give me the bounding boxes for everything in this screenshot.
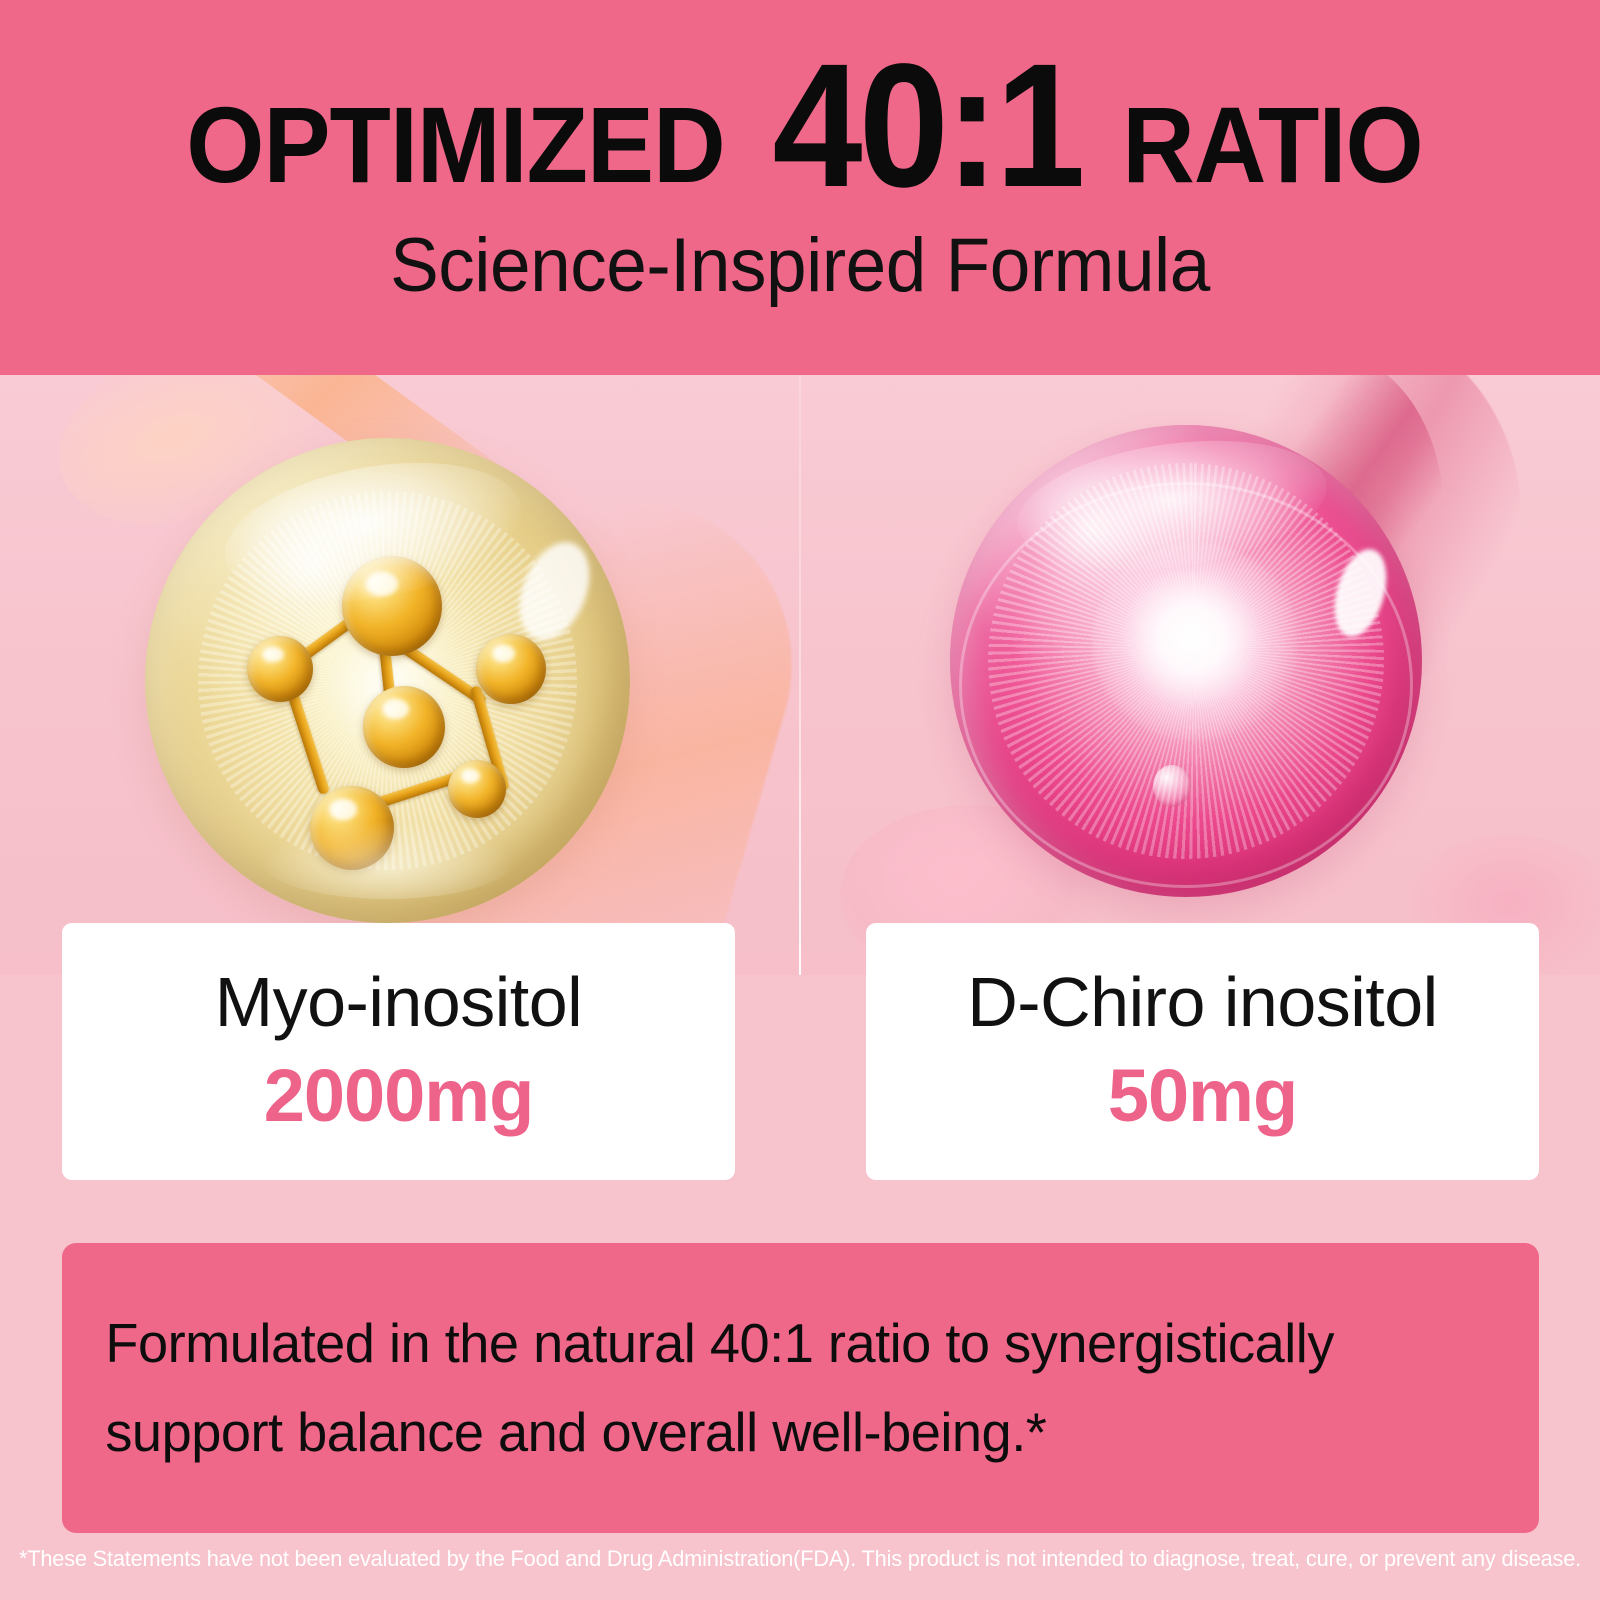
ingredient-card-d-chiro-inositol: D-Chiro inositol 50mg xyxy=(866,923,1539,1180)
title-ratio-value: 40:1 xyxy=(772,38,1081,214)
vertical-divider xyxy=(799,375,801,975)
sphere-highlight-icon xyxy=(261,821,513,899)
sphere-droplet-icon xyxy=(1153,765,1191,807)
ingredient-card-myo-inositol: Myo-inositol 2000mg xyxy=(62,923,735,1180)
ingredient-dose: 50mg xyxy=(866,1059,1539,1133)
callout-line-2: support balance and overall well-being.* xyxy=(105,1388,1334,1477)
ingredient-name: D-Chiro inositol xyxy=(866,967,1539,1037)
pink-burst-sphere-icon xyxy=(950,425,1422,897)
ingredient-dose: 2000mg xyxy=(62,1059,735,1133)
page-subtitle: Science-Inspired Formula xyxy=(32,228,1568,304)
ratio-callout-box: Formulated in the natural 40:1 ratio to … xyxy=(62,1243,1539,1533)
callout-line-1: Formulated in the natural 40:1 ratio to … xyxy=(105,1299,1334,1388)
page-title: OPTIMIZED40:1RATIO xyxy=(0,34,1600,210)
molecule-atom-icon xyxy=(448,760,506,818)
callout-text: Formulated in the natural 40:1 ratio to … xyxy=(62,1299,1377,1477)
title-word-ratio: RATIO xyxy=(1122,91,1422,199)
fda-disclaimer: *These Statements have not been evaluate… xyxy=(8,1546,1592,1572)
product-visual-area xyxy=(0,375,1600,975)
molecule-atom-icon xyxy=(476,634,546,704)
gold-molecule-sphere-icon xyxy=(145,438,630,923)
ingredient-name: Myo-inositol xyxy=(62,967,735,1037)
title-word-optimized: OPTIMIZED xyxy=(186,91,724,199)
molecule-atom-icon xyxy=(247,636,313,702)
header-banner: OPTIMIZED40:1RATIO Science-Inspired Form… xyxy=(0,0,1600,375)
molecule-atom-icon xyxy=(363,686,445,768)
